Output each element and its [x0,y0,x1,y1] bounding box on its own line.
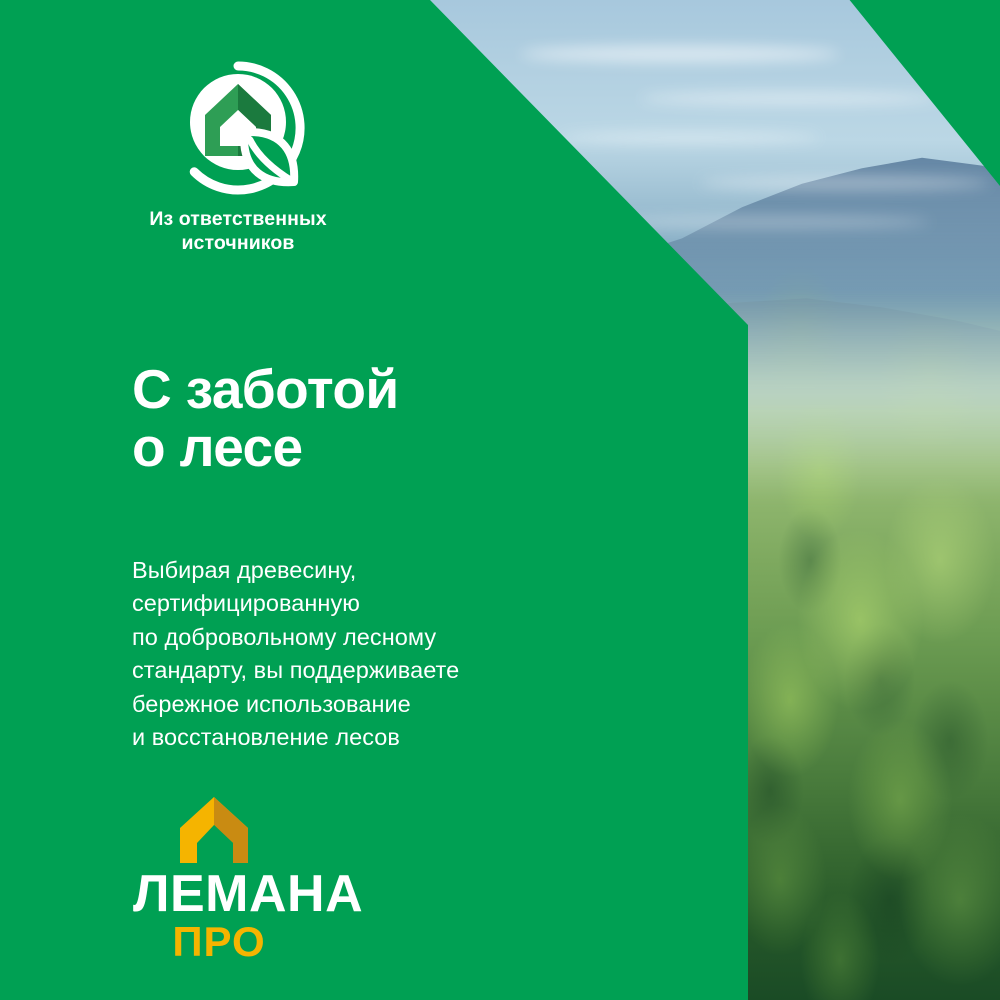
certification-caption-line-2: источников [132,232,344,256]
lemana-pro-logo: ЛЕМАНА ПРО [133,795,363,963]
certification-caption-line-1: Из ответственных [132,208,344,232]
lemana-submark: ПРО [133,921,305,963]
poster-content: Из ответственных источников С заботой о … [0,0,1000,1000]
body-copy: Выбирая древесину, сертифицированную по … [132,554,459,756]
certification-mark: Из ответственных источников [132,60,392,256]
lemana-wordmark: ЛЕМАНА [133,869,363,920]
house-leaf-circle-icon [170,60,306,196]
page-title: С заботой о лесе [132,360,399,477]
poster-canvas: Из ответственных источников С заботой о … [0,0,1000,1000]
house-roof-icon [178,795,250,865]
certification-caption: Из ответственных источников [132,208,344,256]
